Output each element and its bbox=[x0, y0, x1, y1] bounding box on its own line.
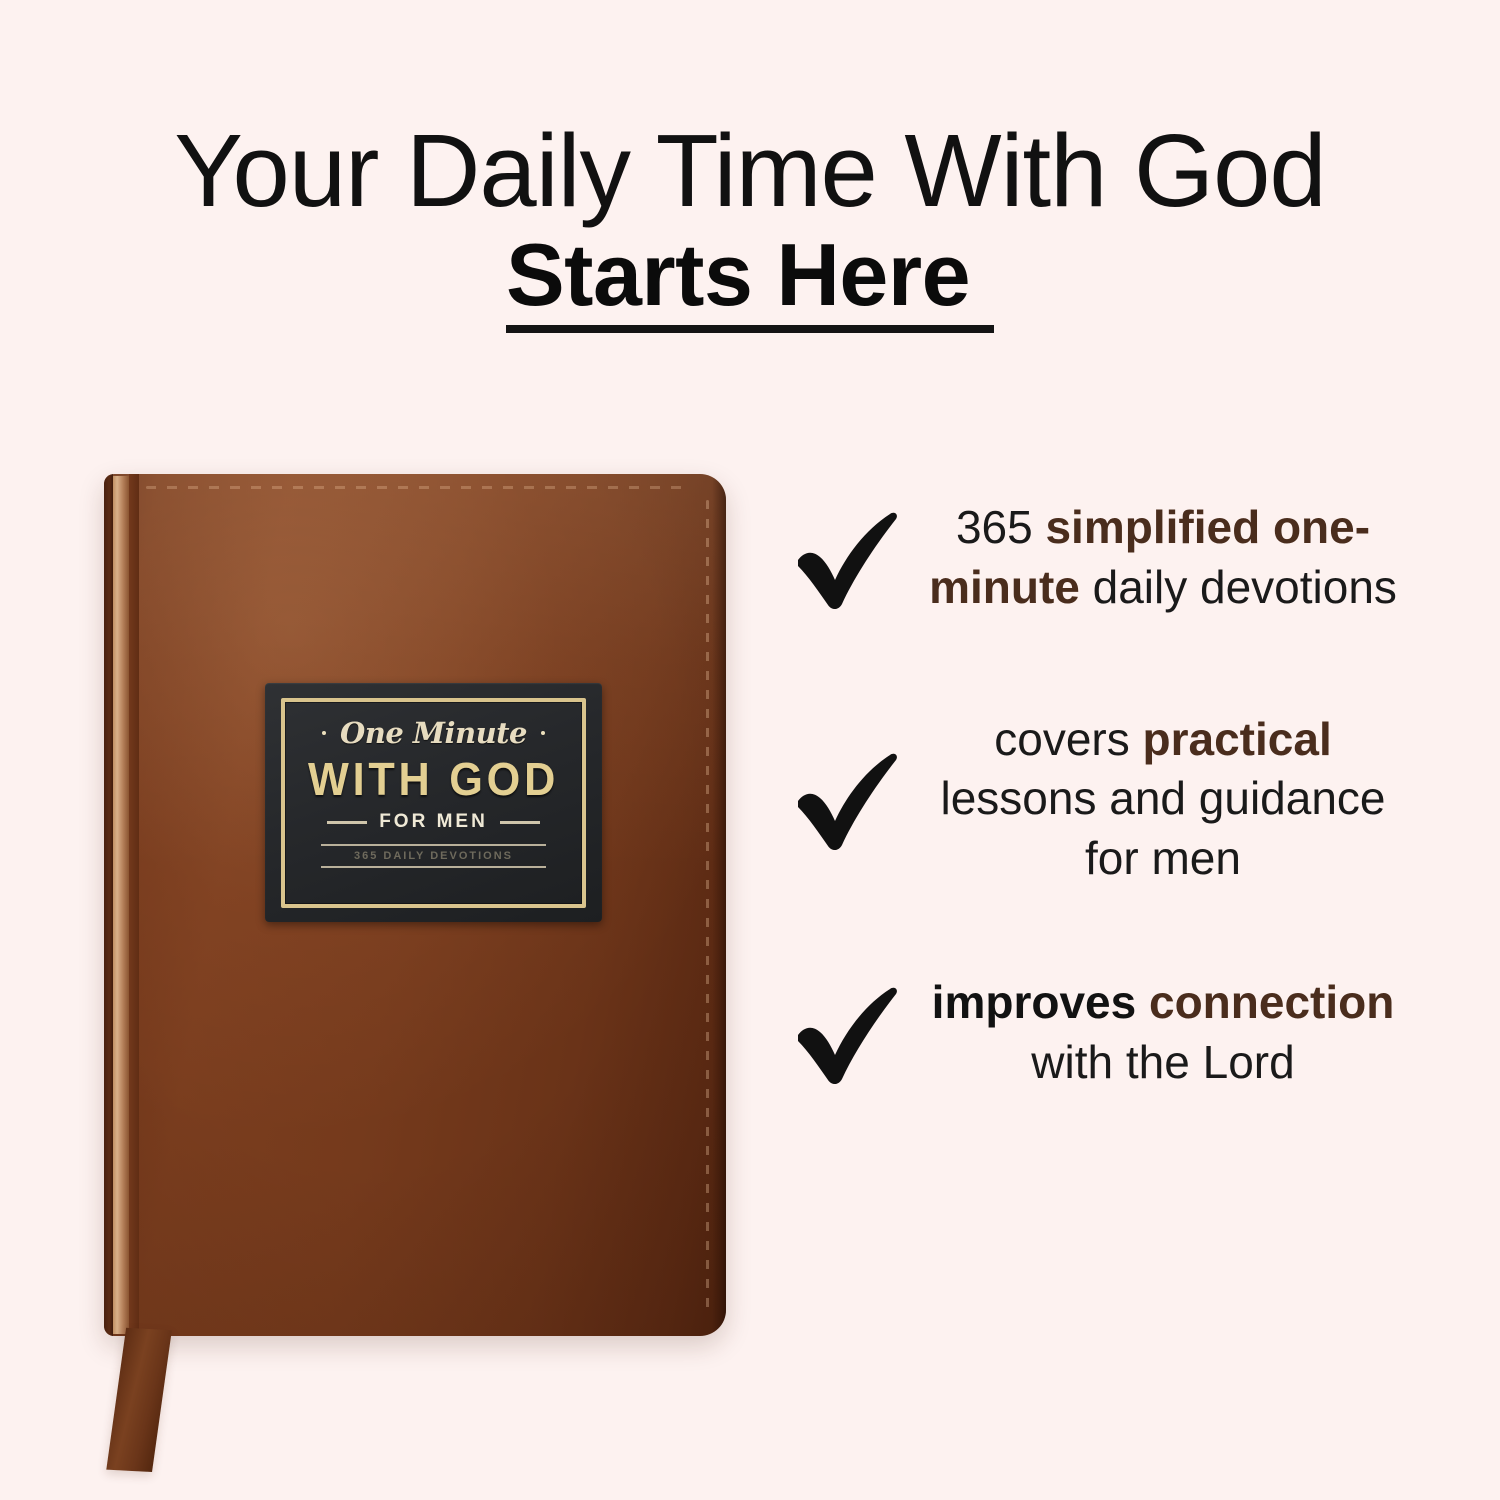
label-subtitle-row: FOR MEN bbox=[285, 811, 582, 833]
check-icon bbox=[790, 502, 908, 614]
headline-secondary: Starts Here bbox=[506, 229, 994, 333]
label-hairline-top bbox=[321, 844, 547, 846]
benefit-segment bbox=[1136, 976, 1149, 1028]
label-subtitle-text: FOR MEN bbox=[379, 811, 488, 833]
label-dot-left bbox=[322, 731, 326, 735]
label-title-text: WITH GOD bbox=[308, 756, 559, 802]
benefit-segment: lessons and guidance for men bbox=[941, 772, 1386, 884]
benefit-text: 365 simplified one-minute daily devotion… bbox=[916, 498, 1410, 618]
label-rule-right bbox=[500, 821, 540, 824]
benefit-segment: daily devotions bbox=[1080, 561, 1397, 613]
label-footer-block: 365 DAILY DEVOTIONS bbox=[321, 844, 547, 868]
check-icon bbox=[790, 743, 908, 855]
cover-stitching-right bbox=[706, 500, 709, 1310]
benefit-segment-emphasis: connection bbox=[1149, 976, 1394, 1028]
cover-edge-shadow bbox=[712, 474, 726, 1336]
benefits-list: 365 simplified one-minute daily devotion… bbox=[790, 498, 1410, 1093]
benefit-segment: covers bbox=[994, 713, 1142, 765]
benefit-segment-emphasis: practical bbox=[1143, 713, 1332, 765]
benefit-item: covers practical lessons and guidance fo… bbox=[790, 710, 1410, 889]
label-script-row: One Minute bbox=[285, 712, 582, 754]
headline-secondary-wrap: Starts Here bbox=[0, 229, 1500, 333]
headline-primary: Your Daily Time With God bbox=[0, 118, 1500, 223]
benefit-text: improves connection with the Lord bbox=[916, 973, 1410, 1093]
label-rule-left bbox=[327, 821, 367, 824]
cover-label-plate: One Minute WITH GOD FOR MEN 365 DAILY DE… bbox=[265, 683, 602, 922]
benefit-segment: 365 bbox=[956, 501, 1046, 553]
label-hairline-bottom bbox=[321, 866, 547, 868]
check-icon bbox=[790, 977, 908, 1089]
headline-block: Your Daily Time With God Starts Here bbox=[0, 118, 1500, 333]
benefit-text: covers practical lessons and guidance fo… bbox=[916, 710, 1410, 889]
book-spine-edge bbox=[104, 474, 113, 1336]
label-script-text: One Minute bbox=[340, 716, 527, 750]
benefit-item: improves connection with the Lord bbox=[790, 973, 1410, 1093]
cover-label-border: One Minute WITH GOD FOR MEN 365 DAILY DE… bbox=[281, 698, 586, 908]
book-cover: One Minute WITH GOD FOR MEN 365 DAILY DE… bbox=[104, 474, 726, 1336]
label-dot-right bbox=[541, 731, 545, 735]
book-product-image: One Minute WITH GOD FOR MEN 365 DAILY DE… bbox=[104, 474, 726, 1336]
book-spine-crease bbox=[129, 474, 139, 1336]
label-footer-text: 365 DAILY DEVOTIONS bbox=[354, 850, 513, 862]
book-spine-strip bbox=[113, 476, 129, 1334]
benefit-segment: with the Lord bbox=[1031, 1036, 1294, 1088]
benefit-segment-emphasis: improves bbox=[932, 976, 1137, 1028]
benefit-item: 365 simplified one-minute daily devotion… bbox=[790, 498, 1410, 618]
book-ribbon-bookmark bbox=[106, 1328, 172, 1472]
cover-stitching-top bbox=[146, 486, 692, 489]
